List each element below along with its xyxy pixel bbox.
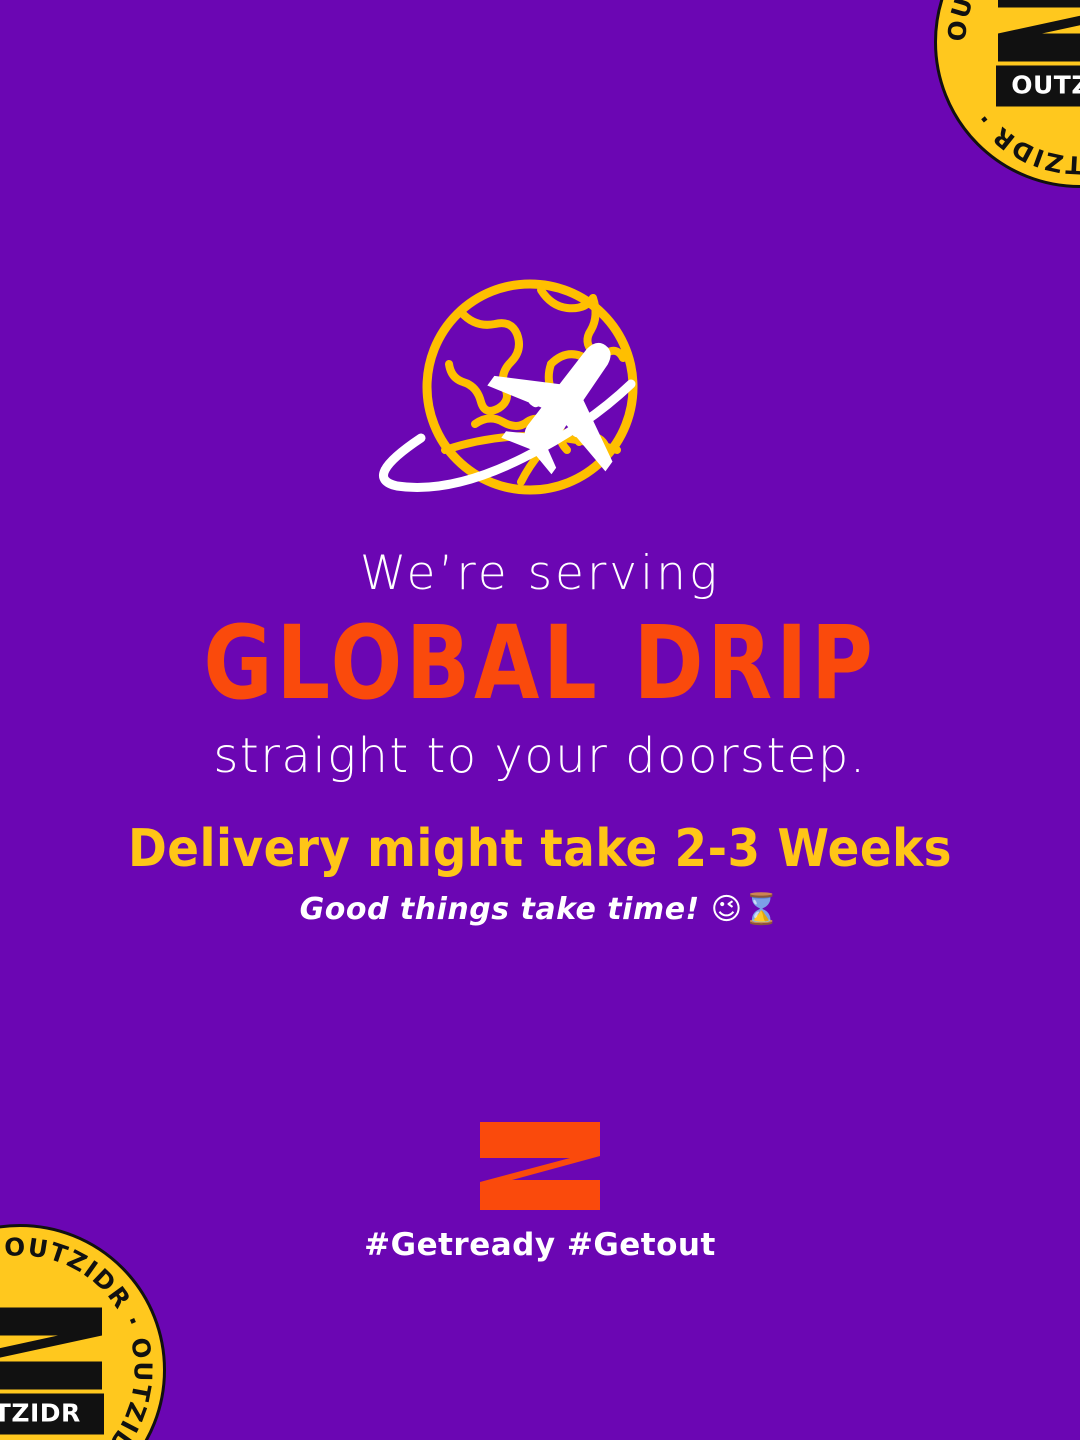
delivery-subnote-text: Good things take time! xyxy=(300,892,700,927)
svg-text:OUTZIDR: OUTZIDR xyxy=(0,1399,81,1428)
badge-core-bottom-left: OUTZIDR xyxy=(0,1306,104,1435)
delivery-notice: Delivery might take 2-3 Weeks xyxy=(0,820,1080,878)
badge-z-mark-bl xyxy=(0,1306,104,1392)
outzidr-z-logo xyxy=(478,1120,602,1212)
delivery-subnote: Good things take time! 😉⌛ xyxy=(0,892,1080,927)
outzidr-sticker-top-right: OUTZIDR · OUTZIDR · OUTZIDR · OUTZIDR · … xyxy=(934,0,1080,188)
headline-line-1: We’re serving xyxy=(0,548,1080,600)
delivery-block: Delivery might take 2-3 Weeks Good thing… xyxy=(0,820,1080,927)
outzidr-sticker-bottom-left: OUTZIDR · OUTZIDR · OUTZIDR · OUTZIDR · … xyxy=(0,1224,166,1440)
badge-wordmark-box-bl: OUTZIDR xyxy=(0,1394,104,1435)
wink-hourglass-emoji: 😉⌛ xyxy=(711,892,781,927)
promo-poster: We’re serving GLOBAL DRIP straight to yo… xyxy=(0,0,1080,1440)
badge-wordmark-box-tr: OUTZIDR xyxy=(996,66,1080,107)
svg-text:OUTZIDR: OUTZIDR xyxy=(1011,71,1080,100)
badge-core-top-right: OUTZIDR xyxy=(996,0,1080,107)
headline-line-3: straight to your doorstep. xyxy=(0,730,1080,783)
badge-z-mark-tr xyxy=(996,0,1080,64)
badge-wordmark-tr: OUTZIDR xyxy=(1003,71,1080,101)
headline-block: We’re serving GLOBAL DRIP straight to yo… xyxy=(0,548,1080,783)
headline-line-2: GLOBAL DRIP xyxy=(43,604,1037,724)
badge-wordmark-bl: OUTZIDR xyxy=(0,1399,89,1429)
globe-airplane-icon xyxy=(355,272,715,512)
